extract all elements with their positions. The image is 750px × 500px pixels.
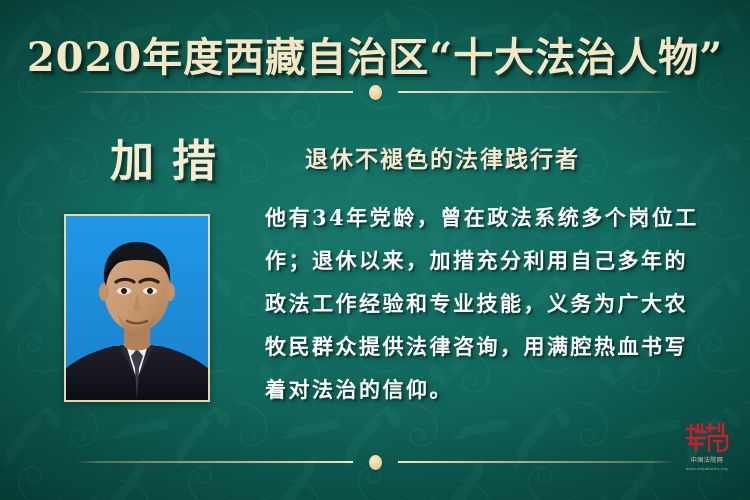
logo-name: 中国法院网 bbox=[678, 457, 736, 465]
bio-line: 牧民群众提供法律咨询，用满腔热血书写 bbox=[265, 325, 710, 368]
portrait-frame bbox=[64, 214, 210, 402]
bio-line: 他有34年党龄，曾在政法系统多个岗位工 bbox=[265, 196, 710, 239]
divider-bottom bbox=[75, 455, 675, 469]
site-logo: 中国法院网 www.chinacourt.org bbox=[678, 422, 736, 472]
divider-rule-left bbox=[75, 91, 353, 93]
divider-rule-right bbox=[398, 461, 676, 463]
logo-url: www.chinacourt.org bbox=[678, 466, 736, 472]
bio-line: 着对法治的信仰。 bbox=[265, 368, 710, 411]
poster-canvas: 2020年度西藏自治区“十大法治人物” 加措 退休不褪色的法律践行者 bbox=[0, 0, 750, 500]
divider-top bbox=[75, 85, 675, 99]
biography-text: 他有34年党龄，曾在政法系统多个岗位工 作；退休以来，加措充分利用自己多年的 政… bbox=[265, 196, 710, 411]
portrait-photo bbox=[66, 216, 208, 400]
honoree-name: 加措 bbox=[48, 125, 278, 189]
bio-line: 政法工作经验和专业技能，义务为广大农 bbox=[265, 282, 710, 325]
divider-rule-left bbox=[75, 461, 353, 463]
seal-logo-icon bbox=[685, 422, 729, 454]
divider-bead-icon bbox=[369, 85, 382, 100]
page-title: 2020年度西藏自治区“十大法治人物” bbox=[0, 25, 750, 83]
divider-bead-icon bbox=[369, 455, 382, 470]
divider-rule-right bbox=[398, 91, 676, 93]
honoree-subtitle: 退休不褪色的法律践行者 bbox=[305, 140, 580, 174]
bio-line: 作；退休以来，加措充分利用自己多年的 bbox=[265, 239, 710, 282]
